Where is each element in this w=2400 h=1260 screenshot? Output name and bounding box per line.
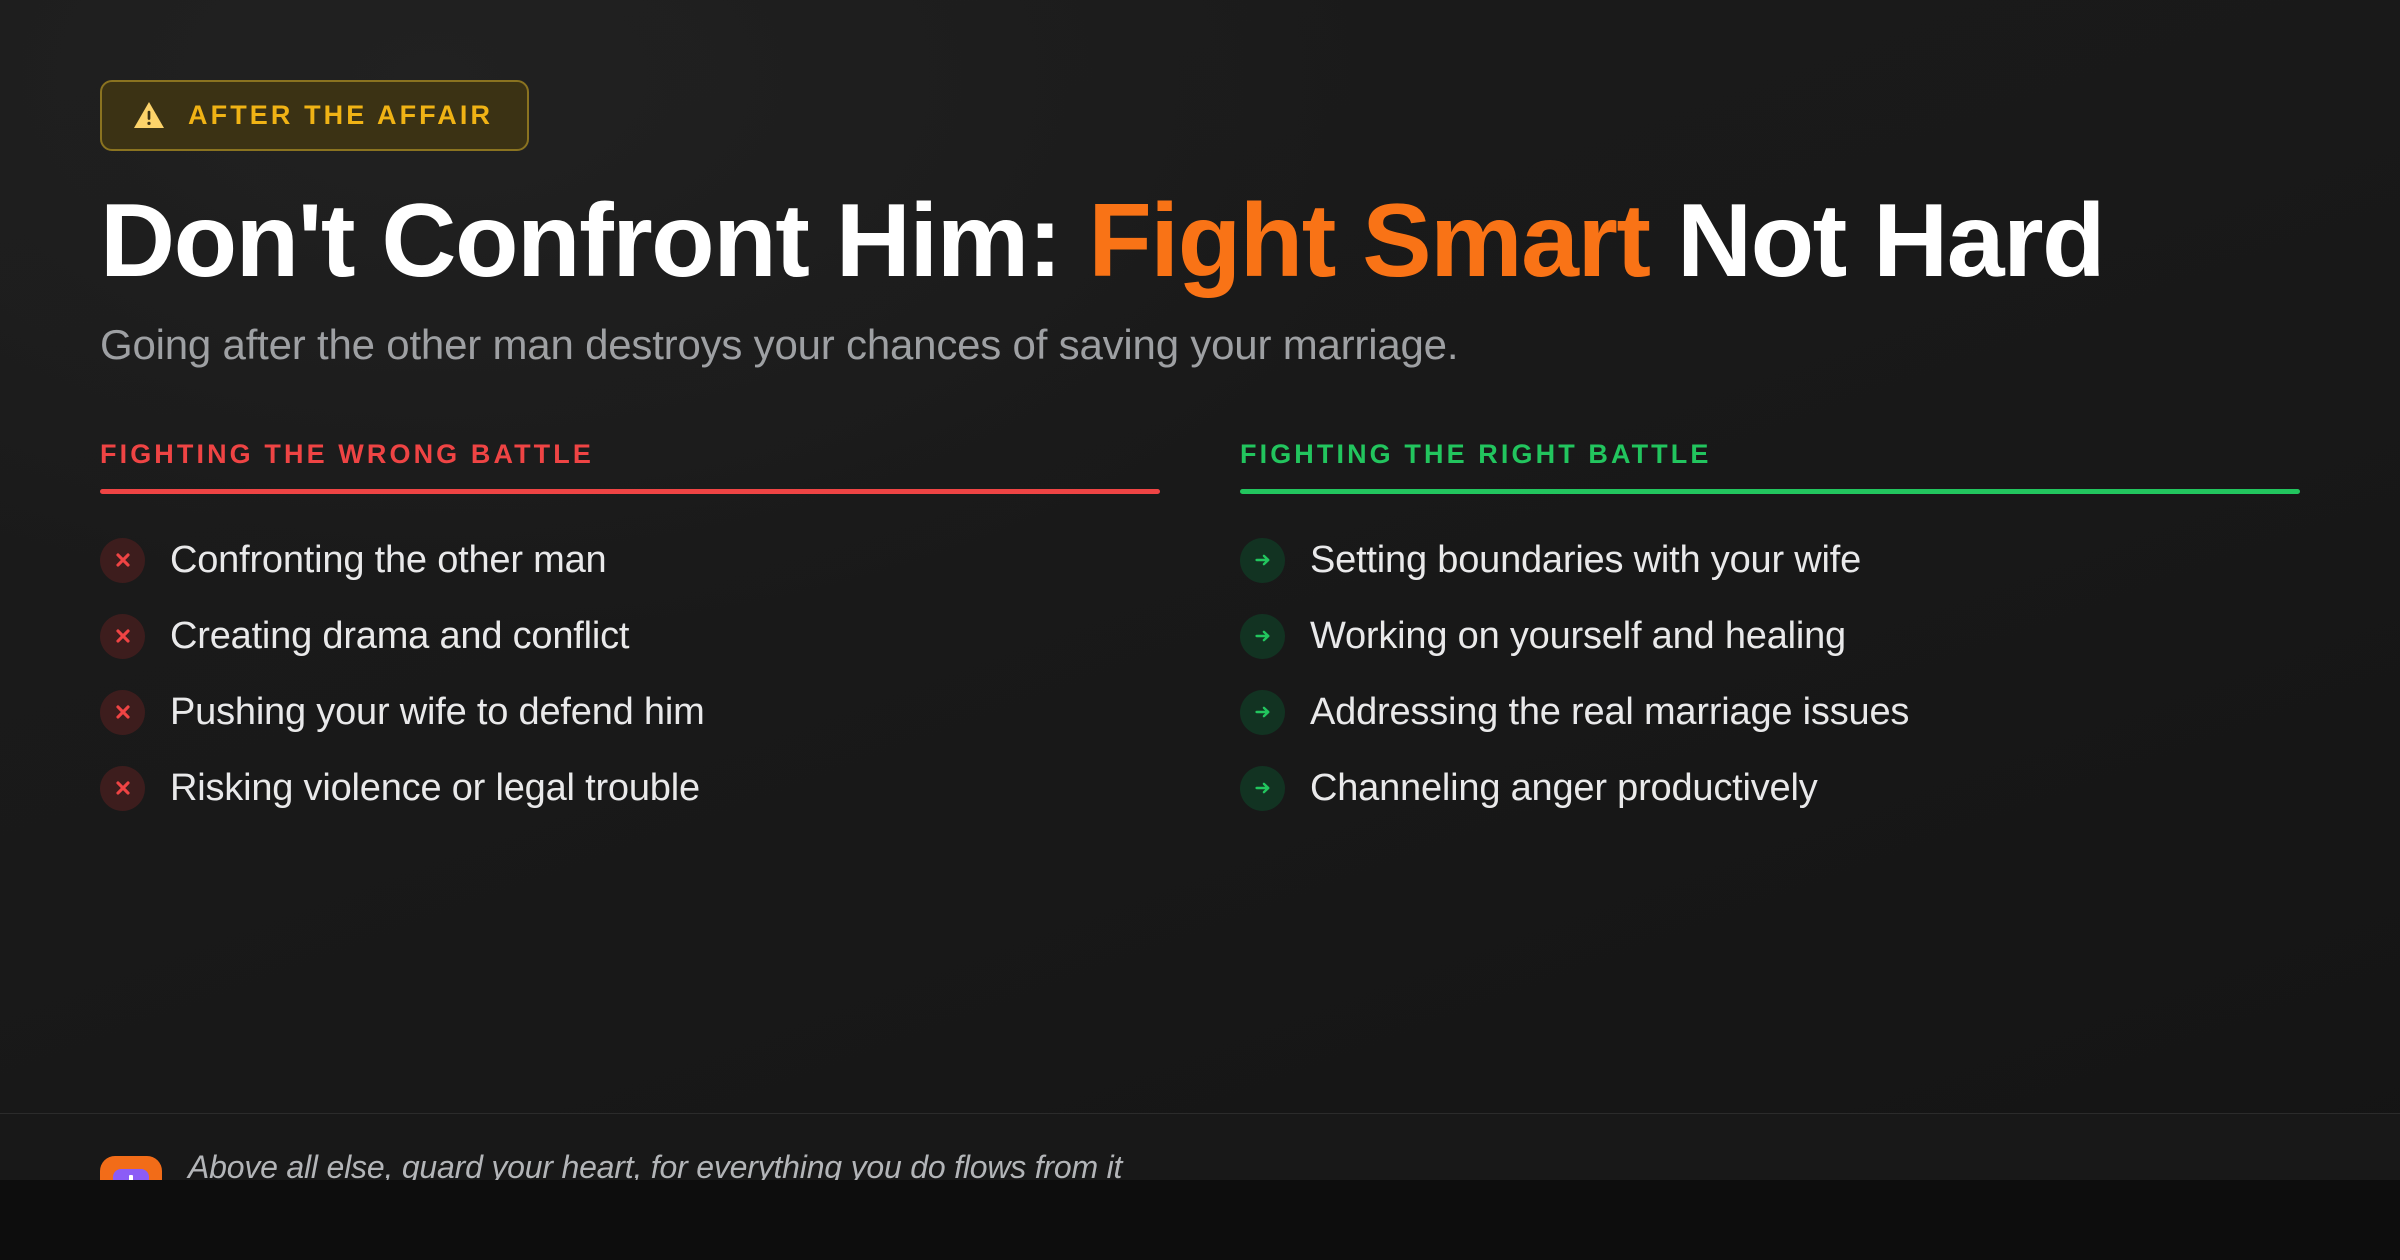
column-wrong-title: Fighting the Wrong Battle	[100, 441, 1160, 468]
page-title: Don't Confront Him: Fight Smart Not Hard	[100, 187, 2300, 295]
list-item: Setting boundaries with your wife	[1240, 522, 2300, 598]
headline-part-2: Not Hard	[1650, 183, 2105, 299]
column-wrong-items: Confronting the other man Creating drama…	[100, 522, 1160, 826]
warning-triangle-icon	[132, 98, 166, 132]
x-circle-icon	[100, 614, 145, 659]
list-item-label: Addressing the real marriage issues	[1310, 691, 1909, 734]
column-right-battle: Fighting the Right Battle Setting bounda…	[1240, 441, 2300, 826]
page-subtitle: Going after the other man destroys your …	[100, 321, 2300, 369]
list-item-label: Creating drama and conflict	[170, 615, 629, 658]
arrow-right-circle-icon	[1240, 614, 1285, 659]
arrow-right-circle-icon	[1240, 690, 1285, 735]
comparison-columns: Fighting the Wrong Battle Confronting th…	[100, 441, 2300, 826]
headline-highlight: Fight Smart	[1088, 183, 1649, 299]
arrow-right-circle-icon	[1240, 538, 1285, 583]
headline-part-1: Don't Confront Him:	[100, 183, 1088, 299]
list-item-label: Pushing your wife to defend him	[170, 691, 705, 734]
column-right-rule	[1240, 489, 2300, 494]
arrow-right-circle-icon	[1240, 766, 1285, 811]
badge-label: After the Affair	[188, 102, 493, 129]
list-item-label: Risking violence or legal trouble	[170, 767, 700, 810]
x-circle-icon	[100, 690, 145, 735]
list-item-label: Setting boundaries with your wife	[1310, 539, 1861, 582]
column-right-title: Fighting the Right Battle	[1240, 441, 2300, 468]
column-wrong-battle: Fighting the Wrong Battle Confronting th…	[100, 441, 1160, 826]
after-the-affair-badge: After the Affair	[100, 80, 529, 151]
list-item: Addressing the real marriage issues	[1240, 674, 2300, 750]
slide: After the Affair Don't Confront Him: Fig…	[0, 0, 2400, 1260]
list-item-label: Working on yourself and healing	[1310, 615, 1846, 658]
column-wrong-rule	[100, 489, 1160, 494]
list-item: Creating drama and conflict	[100, 598, 1160, 674]
slide-content: After the Affair Don't Confront Him: Fig…	[0, 0, 2400, 1113]
x-circle-icon	[100, 538, 145, 583]
list-item: Pushing your wife to defend him	[100, 674, 1160, 750]
list-item-label: Confronting the other man	[170, 539, 607, 582]
x-circle-icon	[100, 766, 145, 811]
column-right-items: Setting boundaries with your wife Workin…	[1240, 522, 2300, 826]
list-item: Confronting the other man	[100, 522, 1160, 598]
list-item: Risking violence or legal trouble	[100, 750, 1160, 826]
list-item: Channeling anger productively	[1240, 750, 2300, 826]
list-item: Working on yourself and healing	[1240, 598, 2300, 674]
list-item-label: Channeling anger productively	[1310, 767, 1818, 810]
bottom-strip	[0, 1180, 2400, 1260]
